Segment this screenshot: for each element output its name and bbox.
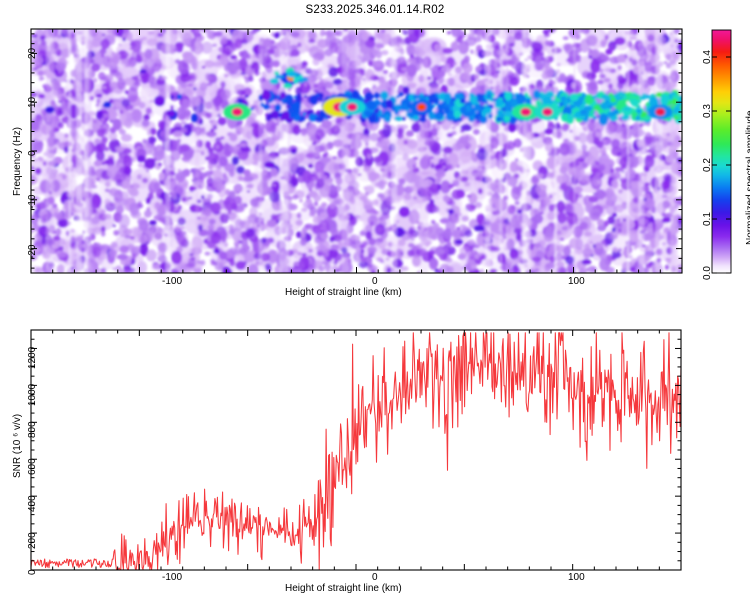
- snr-ytick-600: 600: [27, 458, 38, 475]
- snr-ytick-400: 400: [27, 495, 38, 512]
- snr-ytick-0: 0: [27, 569, 38, 575]
- snr-panel: [31, 330, 681, 570]
- snr-ylabel: SNR (10 ⁶ v/v): [12, 414, 23, 478]
- spectrogram-ytick-0: 0: [27, 150, 38, 156]
- plot-canvas: [0, 0, 750, 600]
- spectrogram-ytick--20: -20: [27, 245, 38, 259]
- snr-xtick--100: -100: [162, 572, 182, 583]
- snr-ytick-800: 800: [27, 421, 38, 438]
- colorbar-tick-0.1: 0.1: [702, 212, 713, 226]
- colorbar-tick-0.3: 0.3: [702, 104, 713, 118]
- snr-ytick-1000: 1000: [27, 384, 38, 406]
- spectrogram-ylabel: Frequency (Hz): [12, 127, 23, 196]
- snr-xlabel: Height of straight line (km): [285, 583, 402, 594]
- spectrogram-xlabel: Height of straight line (km): [285, 287, 402, 298]
- colorbar-tick-0.0: 0.0: [702, 266, 713, 280]
- spectrogram-ytick--10: -10: [27, 195, 38, 209]
- colorbar-label: Normalized spectral amplitude: [745, 110, 750, 245]
- spectrogram-ytick-20: 20: [27, 48, 38, 59]
- snr-ytick-1200: 1200: [27, 347, 38, 369]
- spectrogram-field: [18, 18, 690, 280]
- snr-ytick-200: 200: [27, 532, 38, 549]
- colorbar-gradient: [712, 30, 731, 273]
- colorbar-tick-0.2: 0.2: [702, 158, 713, 172]
- colorbar-tick-0.4: 0.4: [702, 50, 713, 64]
- spectrogram-panel: [18, 18, 690, 280]
- spectrogram-ytick-10: 10: [27, 97, 38, 108]
- snr-xtick-0: 0: [372, 572, 378, 583]
- spectrogram-xtick--100: -100: [162, 276, 182, 287]
- spectrogram-xtick-0: 0: [372, 276, 378, 287]
- figure-title: S233.2025.346.01.14.R02: [0, 4, 750, 16]
- spectrogram-xtick-100: 100: [568, 276, 585, 287]
- snr-xtick-100: 100: [568, 572, 585, 583]
- figure-root: S233.2025.346.01.14.R02: [0, 0, 750, 600]
- colorbar: [712, 30, 731, 273]
